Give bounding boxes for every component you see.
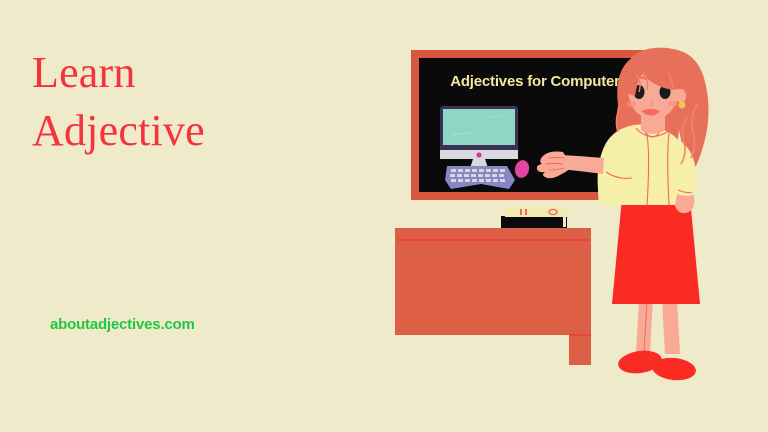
earring-icon (679, 102, 686, 109)
desk-leg-right (569, 243, 591, 365)
desk-body (395, 243, 579, 335)
skirt (612, 198, 700, 304)
book-stack-icon (501, 207, 569, 228)
desk (395, 207, 591, 365)
desk-top (395, 228, 591, 243)
classroom-illustration: Adjectives for Computer (0, 0, 768, 432)
legs (636, 300, 680, 354)
slide-canvas: Learn Adjective aboutadjectives.com Adje… (0, 0, 768, 432)
blackboard-title: Adjectives for Computer (450, 73, 620, 90)
monitor-logo-icon (476, 152, 481, 157)
shoes (617, 348, 697, 382)
hand-right (675, 194, 694, 213)
